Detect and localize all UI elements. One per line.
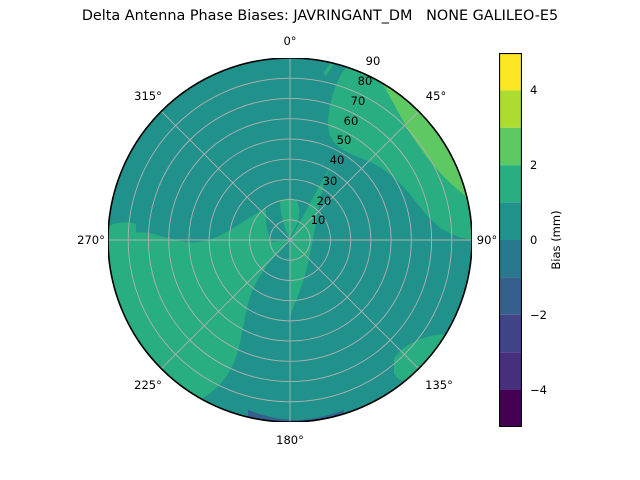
colorbar-band-0 [499,390,522,427]
radial-tick-40: 40 [330,153,345,167]
colorbar-gradient [499,53,522,427]
colorbar-tick-label-minus4: −4 [530,383,547,397]
colorbar-band-8 [499,90,522,127]
radial-tick-80: 80 [358,74,373,88]
colorbar-band-5 [499,203,522,240]
colorbar: 4 2 0 −2 −4 [499,53,522,427]
polar-grid [108,58,472,422]
azimuth-tick-180: 180° [276,433,304,447]
radial-tick-70: 70 [351,94,366,108]
colorbar-tick-label-0: 0 [530,233,537,247]
colorbar-band-2 [499,315,522,352]
colorbar-tick-label-minus2: −2 [530,308,547,322]
polar-contour-plot [108,58,472,422]
colorbar-bands [499,53,522,427]
azimuth-tick-315: 315° [134,89,162,103]
radial-tick-10: 10 [311,213,326,227]
chart-title: Delta Antenna Phase Biases: JAVRINGANT_D… [0,8,640,24]
radial-tick-50: 50 [337,133,352,147]
colorbar-band-3 [499,277,522,314]
azimuth-tick-270: 270° [77,233,105,247]
radial-tick-20: 20 [317,194,332,208]
radial-tick-30: 30 [323,174,338,188]
colorbar-tick-label-4: 4 [530,83,537,97]
azimuth-tick-45: 45° [426,89,446,103]
radial-tick-60: 60 [344,114,359,128]
radial-tick-90: 90 [366,54,381,68]
azimuth-tick-135: 135° [425,378,453,392]
figure-canvas: Delta Antenna Phase Biases: JAVRINGANT_D… [0,0,640,480]
azimuth-tick-90: 90° [477,233,497,247]
colorbar-axis-label: Bias (mm) [549,210,563,269]
colorbar-band-1 [499,352,522,389]
azimuth-tick-0: 0° [283,34,296,48]
colorbar-band-4 [499,240,522,277]
polar-axes: 10 20 30 40 50 60 70 80 90 [108,58,472,422]
colorbar-band-9 [499,53,522,90]
colorbar-tick-label-2: 2 [530,158,537,172]
azimuth-tick-225: 225° [134,378,162,392]
colorbar-band-7 [499,128,522,165]
colorbar-band-6 [499,165,522,202]
